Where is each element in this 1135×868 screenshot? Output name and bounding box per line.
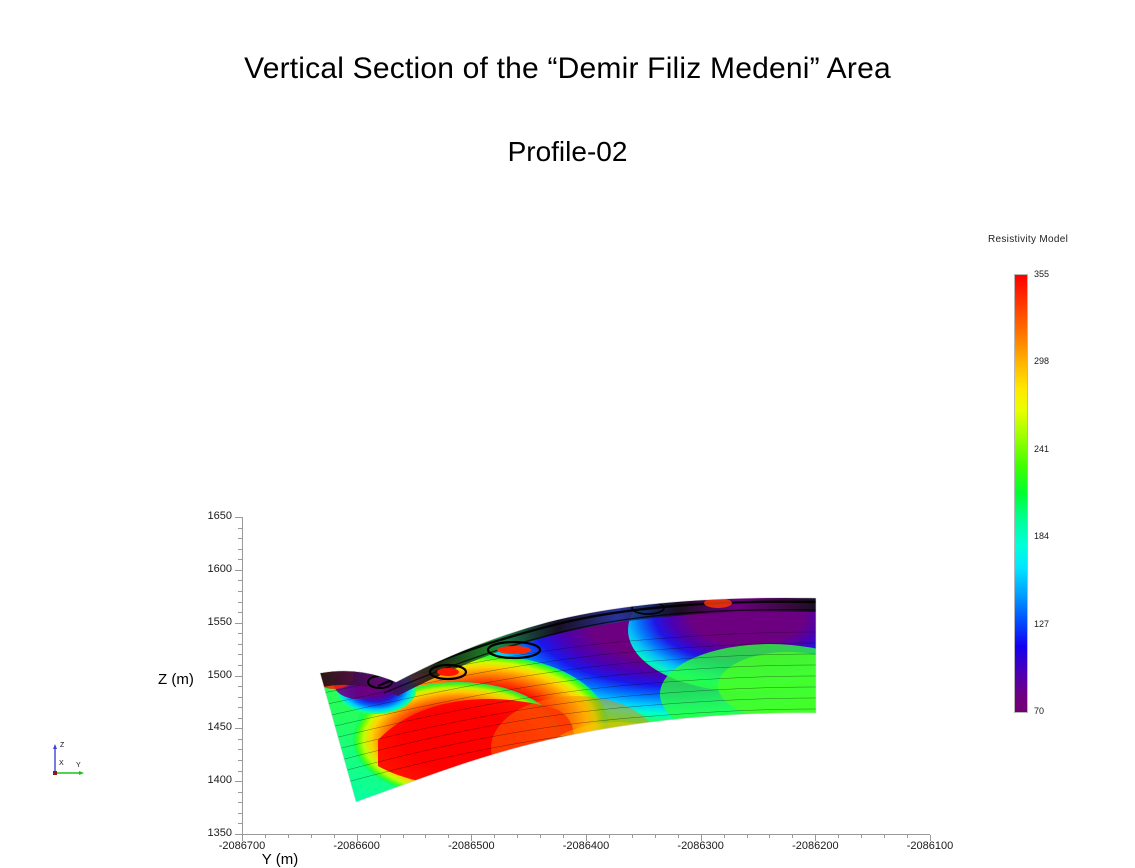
colorbar-tick-label: 298 — [1034, 356, 1049, 366]
x-tick-minor — [311, 835, 312, 838]
x-tick-minor — [403, 835, 404, 838]
x-tick-minor — [769, 835, 770, 838]
y-tick-label: 1350 — [172, 827, 232, 839]
x-tick-minor — [632, 835, 633, 838]
x-tick-minor — [861, 835, 862, 838]
y-tick-minor — [238, 580, 242, 581]
y-tick-minor — [238, 707, 242, 708]
x-tick-minor — [747, 835, 748, 838]
colorbar-gradient — [1014, 274, 1028, 713]
section-svg — [318, 590, 818, 805]
x-tick-minor — [563, 835, 564, 838]
y-tick-minor — [238, 654, 242, 655]
y-tick-label: 1400 — [172, 774, 232, 786]
x-tick-minor — [288, 835, 289, 838]
x-tick-minor — [448, 835, 449, 838]
x-tick-minor — [792, 835, 793, 838]
page-subtitle: Profile-02 — [0, 136, 1135, 168]
y-tick-minor — [238, 760, 242, 761]
colorbar-title: Resistivity Model — [988, 234, 1068, 245]
y-tick-label: 1550 — [172, 616, 232, 628]
x-tick-minor — [425, 835, 426, 838]
x-tick-minor — [380, 835, 381, 838]
triad-x-label: X — [59, 760, 64, 767]
y-tick-minor — [238, 559, 242, 560]
y-tick-minor — [238, 823, 242, 824]
section-image — [318, 590, 818, 805]
y-tick-label: 1600 — [172, 563, 232, 575]
y-tick-minor — [238, 591, 242, 592]
y-tick-label: 1450 — [172, 721, 232, 733]
axis-triad: Z X Y — [46, 738, 98, 782]
colorbar-tick-label: 241 — [1034, 444, 1049, 454]
x-tick-minor — [609, 835, 610, 838]
y-tick-minor — [238, 549, 242, 550]
x-axis-title: Y (m) — [0, 851, 1135, 868]
colorbar-tick-label: 70 — [1034, 706, 1044, 716]
y-tick-minor — [238, 538, 242, 539]
x-tick-minor — [907, 835, 908, 838]
section-fill — [318, 590, 818, 805]
colorbar-legend: Resistivity Model 35529824118412770 — [960, 190, 1135, 750]
x-tick-minor — [540, 835, 541, 838]
y-tick-label: 1650 — [172, 510, 232, 522]
colorbar-tick-label: 127 — [1034, 619, 1049, 629]
y-tick-major — [235, 834, 242, 835]
x-tick-minor — [655, 835, 656, 838]
resistivity-section-plot: 1350140014501500155016001650 -2086700-20… — [0, 190, 960, 690]
y-tick-minor — [238, 686, 242, 687]
y-tick-minor — [238, 644, 242, 645]
x-tick-minor — [517, 835, 518, 838]
y-tick-minor — [238, 813, 242, 814]
y-tick-minor — [238, 802, 242, 803]
y-tick-minor — [238, 612, 242, 613]
y-tick-major — [235, 728, 242, 729]
y-tick-minor — [238, 771, 242, 772]
triad-z-label: Z — [60, 742, 65, 749]
colorbar-tick-label: 184 — [1034, 531, 1049, 541]
x-tick-minor — [838, 835, 839, 838]
x-tick-minor — [265, 835, 266, 838]
y-tick-minor — [238, 718, 242, 719]
colorbar-tick-label: 355 — [1034, 269, 1049, 279]
x-axis-title-text: Y (m) — [262, 851, 298, 868]
y-tick-major — [235, 676, 242, 677]
y-tick-minor — [238, 792, 242, 793]
y-tick-minor — [238, 633, 242, 634]
x-tick-minor — [494, 835, 495, 838]
slide-canvas: Vertical Section of the “Demir Filiz Med… — [0, 0, 1135, 799]
y-tick-minor — [238, 602, 242, 603]
y-tick-minor — [238, 749, 242, 750]
page-title: Vertical Section of the “Demir Filiz Med… — [0, 52, 1135, 86]
x-tick-minor — [334, 835, 335, 838]
y-tick-minor — [238, 528, 242, 529]
y-tick-minor — [238, 697, 242, 698]
y-tick-major — [235, 623, 242, 624]
x-tick-minor — [884, 835, 885, 838]
x-tick-minor — [678, 835, 679, 838]
y-axis-spine — [242, 517, 243, 835]
y-tick-minor — [238, 739, 242, 740]
y-tick-minor — [238, 665, 242, 666]
y-tick-major — [235, 517, 242, 518]
y-axis-title: Z (m) — [158, 671, 194, 688]
triad-y-label: Y — [76, 762, 81, 769]
triad-svg: Z X Y — [46, 738, 98, 782]
x-tick-minor — [724, 835, 725, 838]
y-tick-major — [235, 570, 242, 571]
y-tick-major — [235, 781, 242, 782]
